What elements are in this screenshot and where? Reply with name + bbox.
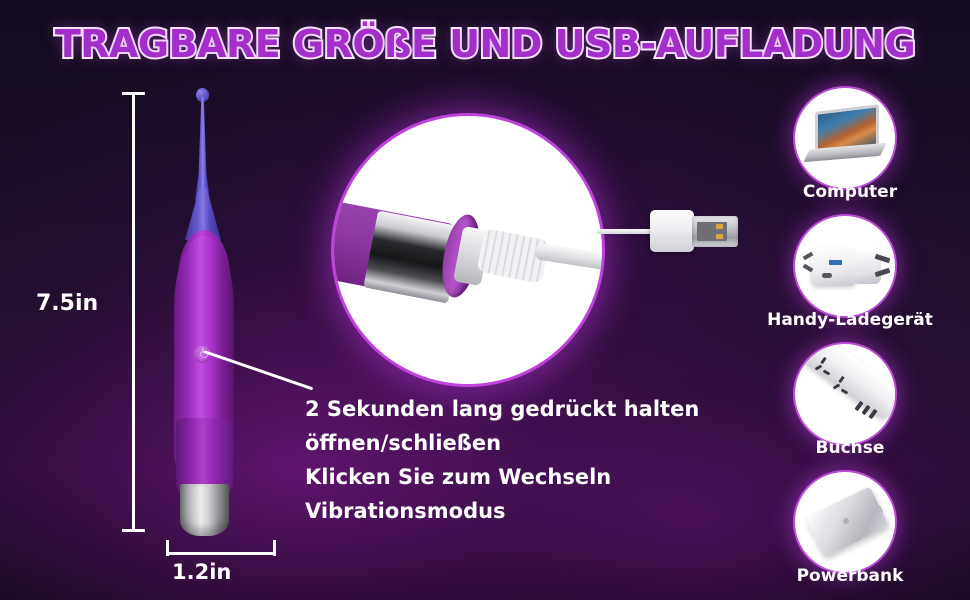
device-item-powerbank: Powerbank (730, 472, 970, 600)
instruction-line: 2 Sekunden lang gedrückt halten (305, 392, 735, 426)
device-label: Buchse (730, 438, 970, 458)
height-cap-top (122, 92, 145, 95)
width-dimension-line (166, 552, 276, 555)
instruction-line: öffnen/schließen (305, 426, 735, 460)
power-bank-icon (795, 472, 895, 572)
usb-pin (716, 234, 723, 239)
device-label: Powerbank (730, 566, 970, 586)
height-label: 7.5in (36, 291, 98, 316)
width-label: 1.2in (172, 560, 231, 584)
height-dimension-line (132, 92, 135, 532)
width-cap-right (273, 540, 276, 556)
charger-body (811, 248, 857, 286)
device-item-charger: Handy-Ladegerät (730, 216, 970, 344)
power-strip-icon (795, 344, 895, 444)
width-cap-left (166, 540, 169, 556)
strip-body (801, 344, 895, 421)
infographic-canvas: TRAGBARE GRÖßE UND USB-AUFLADUNG 7.5in 1… (0, 0, 970, 600)
charging-port-closeup (334, 116, 602, 384)
instruction-line: Klicken Sie zum Wechseln (305, 460, 735, 494)
device-item-socket: Buchse (730, 344, 970, 472)
charger-usb-a-port (829, 260, 842, 265)
charger-usb-c-port (822, 273, 832, 278)
usb-plug-icon (650, 210, 694, 252)
device-label: Handy-Ladegerät (730, 310, 970, 330)
compatible-devices-list: Computer Handy-Ladegerät (730, 88, 970, 600)
product-image (150, 88, 260, 538)
product-dimension-group: 7.5in 1.2in (0, 0, 300, 600)
height-cap-bottom (122, 529, 145, 532)
laptop-icon (795, 88, 895, 188)
usb-cable (596, 229, 656, 234)
usb-pin (716, 224, 723, 229)
wall-charger-icon (795, 216, 895, 316)
device-label: Computer (730, 182, 970, 202)
device-item-computer: Computer (730, 88, 970, 216)
instruction-text-block: 2 Sekunden lang gedrückt halten öffnen/s… (305, 392, 735, 528)
instruction-line: Vibrationsmodus (305, 494, 735, 528)
chrome-base-icon (180, 484, 229, 536)
tip-stem (195, 97, 210, 201)
